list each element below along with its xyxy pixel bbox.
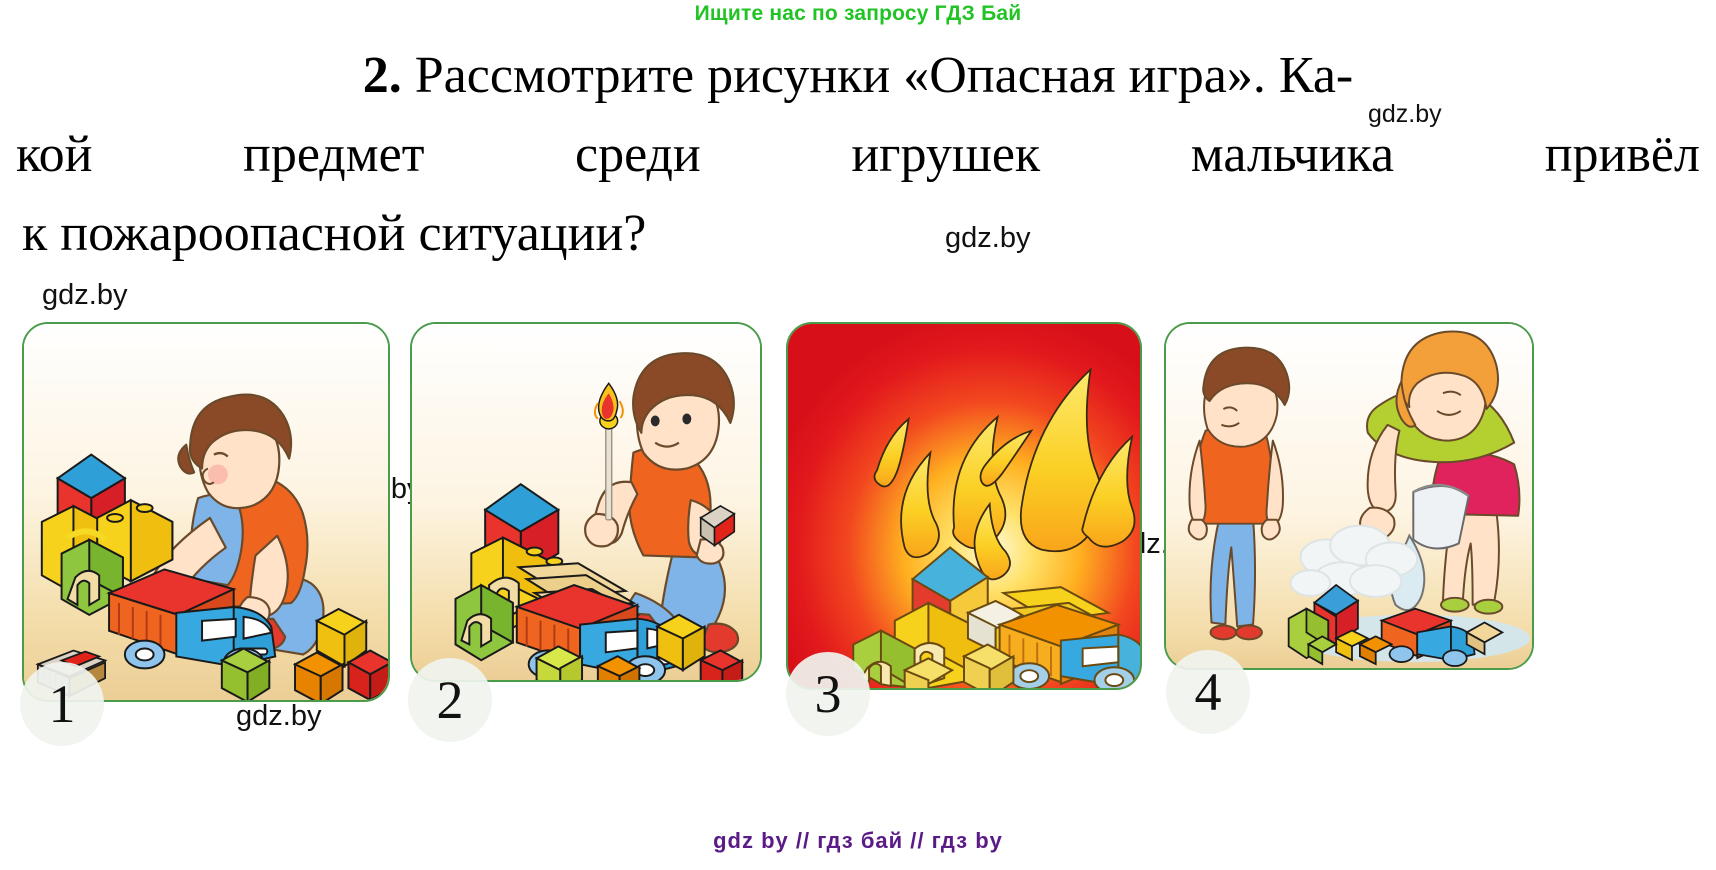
question-word: предмет bbox=[243, 115, 424, 194]
panel-number-4: 4 bbox=[1166, 650, 1250, 734]
scene-boy-with-match bbox=[412, 324, 760, 680]
scene-fire bbox=[788, 324, 1140, 688]
question-word: привёл bbox=[1545, 115, 1700, 194]
panel-2[interactable] bbox=[410, 322, 762, 682]
footer-links: gdz by // гдз бай // гдз by bbox=[0, 828, 1716, 854]
panel-3[interactable] bbox=[786, 322, 1142, 690]
panel-number-3: 3 bbox=[786, 652, 870, 736]
panel-number-2: 2 bbox=[408, 658, 492, 742]
panel-1[interactable] bbox=[22, 322, 390, 702]
question-word: мальчика bbox=[1191, 115, 1394, 194]
question-block: 2. Рассмотрите рисунки «Опасная игра». К… bbox=[16, 36, 1700, 273]
scene-aftermath bbox=[1166, 324, 1532, 668]
question-line-2: кой предмет среди игрушек мальчика привё… bbox=[16, 115, 1700, 194]
question-line-3: к пожароопасной ситуации? bbox=[16, 194, 1700, 273]
question-number: 2. bbox=[363, 47, 402, 104]
question-line-1-text: Рассмотрите рисунки «Опасная игра». Ка- bbox=[415, 47, 1354, 104]
question-word: игрушек bbox=[851, 115, 1040, 194]
question-word: кой bbox=[16, 115, 92, 194]
scene-boy-playing bbox=[24, 324, 388, 700]
promo-header: Ищите нас по запросу ГДЗ Бай bbox=[0, 2, 1716, 26]
illustration-panels bbox=[0, 322, 1716, 722]
question-word: среди bbox=[575, 115, 701, 194]
watermark-gdz: gdz.by bbox=[42, 279, 127, 312]
panel-4[interactable] bbox=[1164, 322, 1534, 670]
panel-number-1: 1 bbox=[20, 662, 104, 746]
question-line-1: 2. Рассмотрите рисунки «Опасная игра». К… bbox=[16, 36, 1700, 115]
